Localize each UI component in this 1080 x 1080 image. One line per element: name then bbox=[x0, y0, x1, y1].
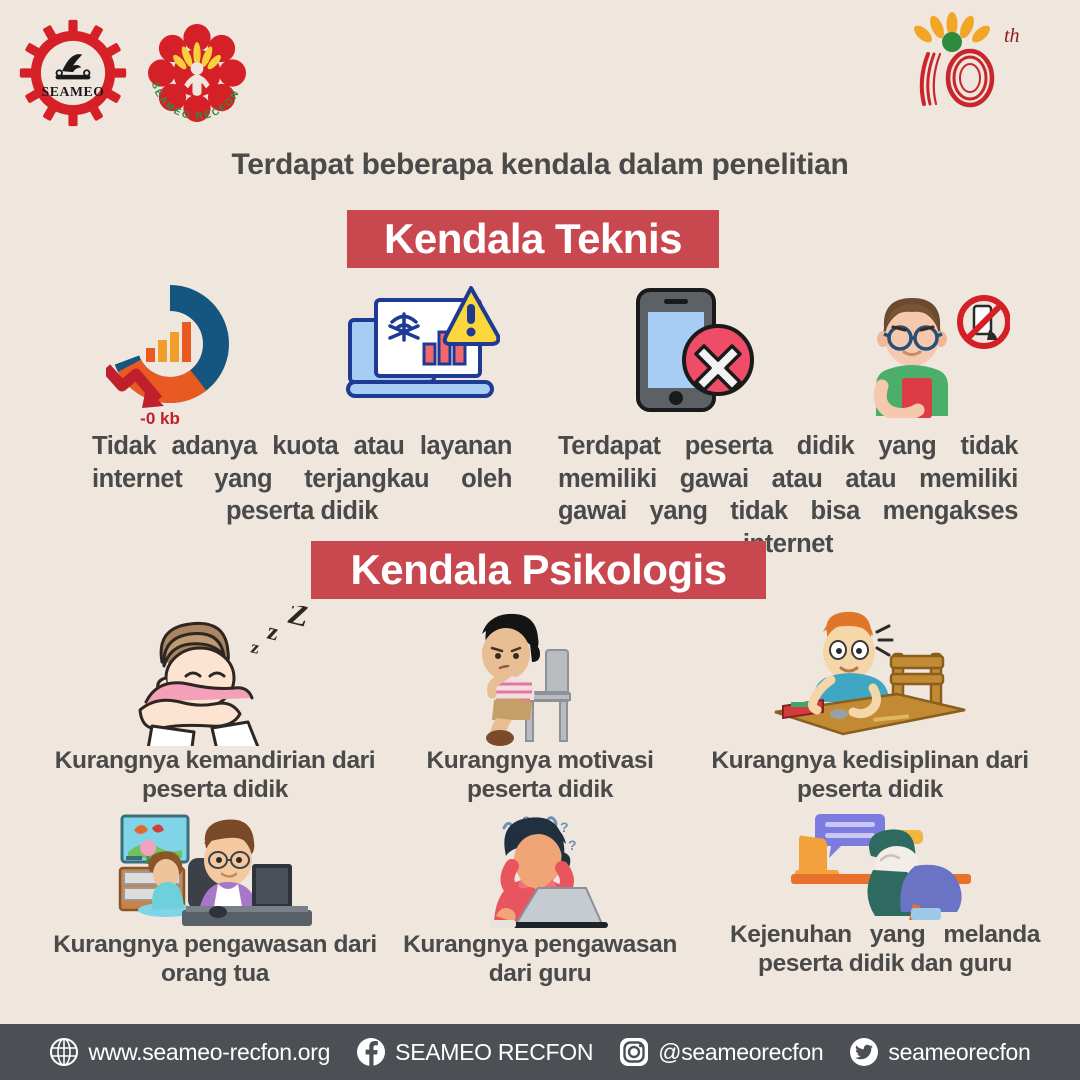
psychological-caption-3: Kurangnya kedisiplinan dari peserta didi… bbox=[700, 746, 1040, 805]
stressed-teacher-icon: ??? bbox=[450, 812, 630, 930]
seameo-logo: SEAMEO bbox=[18, 18, 128, 128]
psychological-item-4: Kurangnya pengawasan dari orang tua bbox=[40, 812, 390, 989]
anniversary-suffix: th bbox=[1004, 25, 1020, 47]
psychological-caption-2: Kurangnya motivasi peserta didik bbox=[390, 746, 690, 805]
section-banner-technical: Kendala Teknis bbox=[347, 210, 719, 268]
anniversary-10th-logo: th bbox=[892, 8, 1032, 114]
svg-text:Z: Z bbox=[284, 606, 311, 634]
twitter-icon bbox=[849, 1037, 879, 1067]
student-no-phone-icon bbox=[862, 282, 1010, 418]
psychological-item-6: Kejenuhan yang melanda peserta didik dan… bbox=[730, 808, 1040, 979]
psychological-caption-4: Kurangnya pengawasan dari orang tua bbox=[40, 930, 390, 989]
svg-text:?: ? bbox=[568, 837, 577, 853]
footer-facebook[interactable]: SEAMEO RECFON bbox=[356, 1037, 593, 1067]
student-at-desk-icon bbox=[765, 606, 975, 746]
instagram-icon bbox=[619, 1037, 649, 1067]
psychological-caption-6: Kejenuhan yang melanda peserta didik dan… bbox=[730, 920, 1040, 979]
logo-row: SEAMEO SEAMEO RECFON bbox=[18, 14, 256, 132]
psychological-item-2: Kurangnya motivasi peserta didik bbox=[390, 606, 690, 805]
psychological-item-5: ??? Kurangnya pengawasan dari guru bbox=[390, 812, 690, 989]
seameo-recfon-logo: SEAMEO RECFON bbox=[138, 14, 256, 132]
svg-text:?: ? bbox=[560, 819, 569, 835]
footer-instagram[interactable]: @seameorecfon bbox=[619, 1037, 823, 1067]
footer-twitter[interactable]: seameorecfon bbox=[849, 1037, 1030, 1067]
footer-twitter-label: seameorecfon bbox=[888, 1039, 1030, 1066]
footer-bar: www.seameo-recfon.org SEAMEO RECFON @sea… bbox=[0, 1024, 1080, 1080]
bored-child-on-chair-icon bbox=[450, 606, 630, 746]
laptop-no-signal-warning-icon bbox=[340, 286, 500, 414]
page-title: Terdapat beberapa kendala dalam peneliti… bbox=[0, 148, 1080, 182]
section-banner-psychological: Kendala Psikologis bbox=[311, 541, 766, 599]
seameo-wordmark: SEAMEO bbox=[42, 84, 105, 99]
psychological-caption-1: Kurangnya kemandirian dari peserta didik bbox=[40, 746, 390, 805]
psychological-item-1: z z Z Kurangnya kemandirian dari peserta… bbox=[40, 606, 390, 805]
facebook-icon bbox=[356, 1037, 386, 1067]
psychological-caption-5: Kurangnya pengawasan dari guru bbox=[390, 930, 690, 989]
footer-facebook-label: SEAMEO RECFON bbox=[395, 1039, 593, 1066]
infographic-poster: SEAMEO SEAMEO RECFON bbox=[0, 0, 1080, 1080]
kb-badge-label: -0 kb bbox=[140, 409, 180, 428]
busy-parent-computer-icon bbox=[100, 812, 330, 930]
sleeping-student-icon: z z Z bbox=[100, 606, 330, 746]
footer-website[interactable]: www.seameo-recfon.org bbox=[49, 1037, 330, 1067]
footer-instagram-label: @seameorecfon bbox=[658, 1039, 823, 1066]
globe-icon bbox=[49, 1037, 79, 1067]
technical-caption-1: Tidak adanya kuota atau layanan internet… bbox=[92, 430, 512, 528]
svg-text:z: z bbox=[265, 619, 282, 647]
donut-chart-declining-icon: -0 kb bbox=[106, 282, 234, 428]
svg-text:z: z bbox=[249, 636, 262, 657]
technical-icon-row: -0 kb bbox=[0, 282, 1080, 427]
footer-website-label: www.seameo-recfon.org bbox=[88, 1039, 330, 1066]
burnout-desk-icon bbox=[785, 808, 985, 920]
smartphone-error-icon bbox=[628, 286, 756, 416]
psychological-item-3: Kurangnya kedisiplinan dari peserta didi… bbox=[700, 606, 1040, 805]
